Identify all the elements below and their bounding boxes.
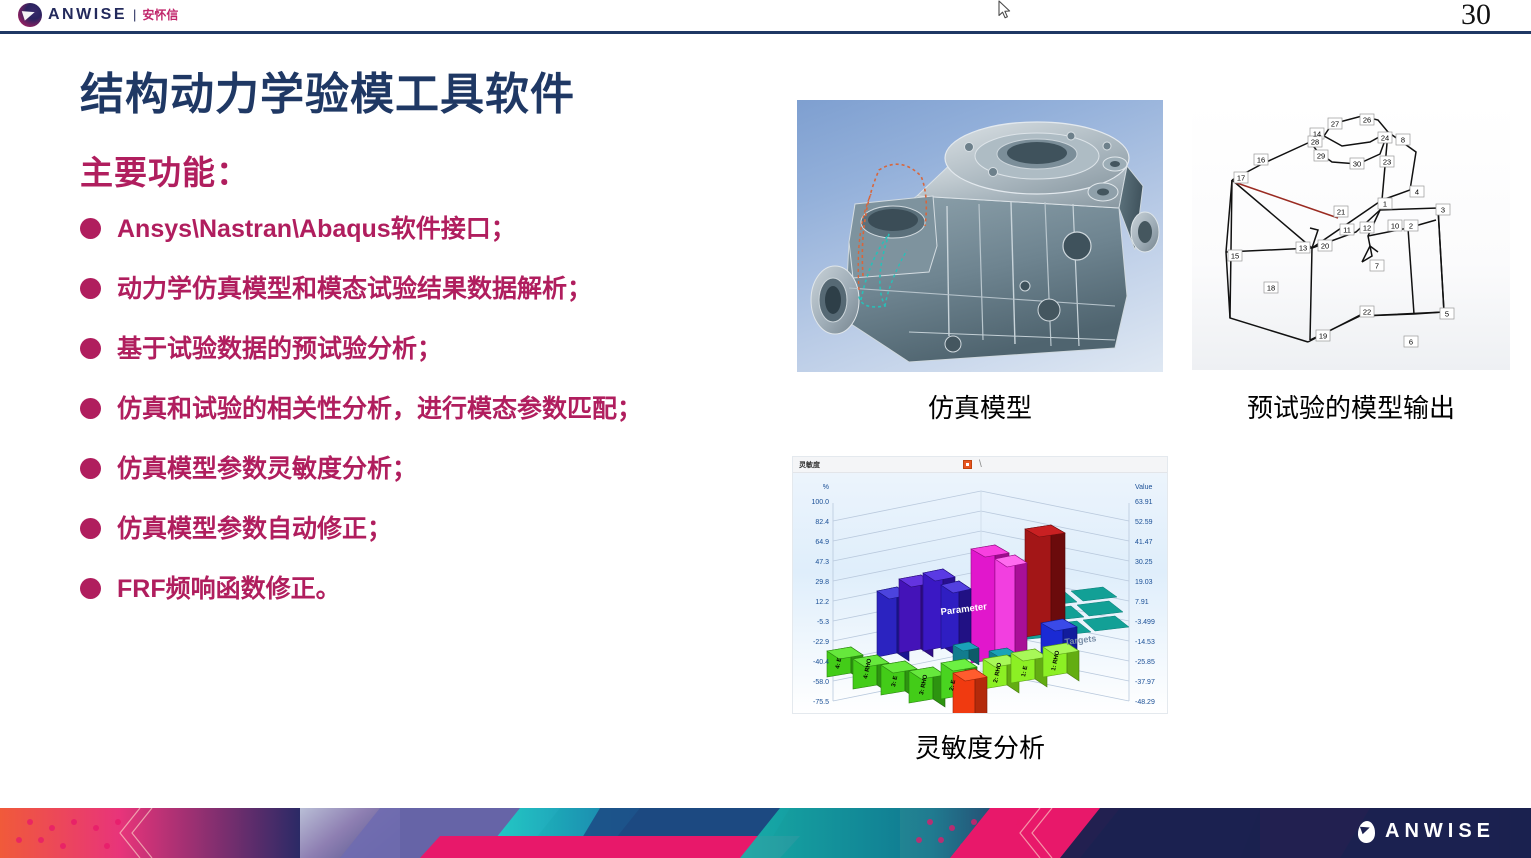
list-item-label: Ansys\Nastran\Abaqus软件接口； (117, 206, 516, 252)
bullet-dot-icon (80, 518, 101, 539)
list-item: FRF频响函数修正。 (80, 566, 810, 626)
wire-node-label: 11 (1343, 226, 1351, 235)
chart-y2tick-label: 63.91 (1135, 499, 1153, 506)
wire-node-label: 30 (1353, 160, 1361, 169)
chart-y2tick-label: -3.499 (1135, 619, 1155, 626)
chart-ytick-label: -22.9 (813, 639, 829, 646)
chart-ytick-label: -75.5 (813, 699, 829, 706)
list-item: 基于试验数据的预试验分析； (80, 326, 810, 386)
bullet-dot-icon (80, 218, 101, 239)
wire-node-label: 15 (1231, 252, 1239, 261)
chart-y2tick-label: 19.03 (1135, 579, 1153, 586)
chart-ytick-label: -40.4 (813, 659, 829, 666)
bullet-dot-icon (80, 278, 101, 299)
caption-sensitivity: 灵敏度分析 (792, 728, 1168, 765)
brand-name: ANWISE (48, 3, 127, 27)
wire-node-label: 1 (1383, 200, 1387, 209)
wire-node-label: 17 (1237, 174, 1245, 183)
caption-wireframe: 预试验的模型输出 (1192, 388, 1510, 425)
wire-node-label: 6 (1409, 338, 1413, 347)
list-item: Ansys\Nastran\Abaqus软件接口； (80, 206, 810, 266)
wire-node-label: 3 (1441, 206, 1445, 215)
list-item: 仿真模型参数灵敏度分析； (80, 446, 810, 506)
chart-y2tick-label: 7.91 (1135, 599, 1149, 606)
pretest-wireframe-image: 1 2 3 4 5 6 7 8 10 11 12 13 14 15 16 17 (1192, 102, 1510, 370)
caption-cad-model: 仿真模型 (797, 388, 1163, 425)
wire-node-label: 10 (1391, 222, 1399, 231)
page-number: 30 (1461, 0, 1491, 32)
chart-ytick-label: 12.2 (815, 599, 829, 606)
chart-ytick-label: -5.3 (817, 619, 829, 626)
bullet-dot-icon (80, 398, 101, 419)
list-item: 仿真模型参数自动修正； (80, 506, 810, 566)
wire-node-label: 4 (1415, 188, 1419, 197)
bullet-dot-icon (80, 338, 101, 359)
sensitivity-window-title: 灵敏度 (799, 460, 820, 470)
chart-y2tick-label: -25.85 (1135, 659, 1155, 666)
chart-ytick-label: 100.0 (811, 499, 829, 506)
list-item-label: 动力学仿真模型和模态试验结果数据解析； (117, 266, 592, 312)
list-item-label: 基于试验数据的预试验分析； (117, 326, 442, 372)
wire-node-label: 7 (1375, 262, 1379, 271)
slide-header: ANWISE | 安怀信 30 (0, 0, 1531, 32)
anwise-logo-icon (18, 3, 42, 27)
page-title: 结构动力学验模工具软件 (80, 58, 575, 122)
wire-node-label: 23 (1383, 158, 1391, 167)
wire-node-label: 13 (1299, 244, 1307, 253)
wire-node-label: 16 (1257, 156, 1265, 165)
chart-ytick-label: 47.3 (815, 559, 829, 566)
footer-decorative-band: ANWISE (0, 808, 1531, 858)
chart-y2tick-label: -14.53 (1135, 639, 1155, 646)
chart-y2tick-label: -48.29 (1135, 699, 1155, 706)
list-item-label: 仿真模型参数灵敏度分析； (117, 446, 417, 492)
wire-node-label: 19 (1319, 332, 1327, 341)
chart-ytick-label: -58.0 (813, 679, 829, 686)
sensitivity-chart-window: 灵敏度 \ (792, 456, 1168, 714)
cad-model-image (797, 100, 1163, 372)
anwise-logo-icon (1356, 821, 1376, 843)
footer-brand-logo: ANWISE (1356, 820, 1495, 843)
toolbar-glyph: \ (979, 459, 982, 470)
feature-list: Ansys\Nastran\Abaqus软件接口； 动力学仿真模型和模态试验结果… (80, 206, 810, 626)
section-subtitle: 主要功能： (80, 146, 250, 194)
wire-node-label: 18 (1267, 284, 1275, 293)
wire-node-label: 8 (1401, 136, 1405, 145)
footer-brand-name: ANWISE (1385, 820, 1495, 843)
brand-divider: | (133, 3, 136, 27)
chart-ytick-label: 29.8 (815, 579, 829, 586)
list-item: 仿真和试验的相关性分析，进行模态参数匹配； (80, 386, 810, 446)
mouse-cursor-icon (998, 0, 1014, 27)
wire-node-label: 26 (1363, 116, 1371, 125)
chart-y2tick-label: 41.47 (1135, 539, 1153, 546)
list-item-label: 仿真模型参数自动修正； (117, 506, 392, 552)
list-item-label: 仿真和试验的相关性分析，进行模态参数匹配； (117, 386, 642, 432)
wire-node-label: 29 (1317, 152, 1325, 161)
bullet-dot-icon (80, 578, 101, 599)
list-item: 动力学仿真模型和模态试验结果数据解析； (80, 266, 810, 326)
chart-y2tick-label: 30.25 (1135, 559, 1153, 566)
bullet-dot-icon (80, 458, 101, 479)
wire-node-label: 27 (1331, 120, 1339, 129)
wire-node-label: 28 (1311, 138, 1319, 147)
wire-node-label: 21 (1337, 208, 1345, 217)
wire-node-label: 12 (1363, 224, 1371, 233)
wire-node-label: 22 (1363, 308, 1371, 317)
brand-logo: ANWISE | 安怀信 (18, 3, 178, 27)
wire-node-label: 5 (1445, 310, 1449, 319)
chart-ytick-label: 82.4 (815, 519, 829, 526)
wire-node-label: 2 (1409, 222, 1413, 231)
chart-ytick-label: 64.9 (815, 539, 829, 546)
chart-y2axis-unit: Value (1135, 484, 1152, 491)
wire-node-label: 20 (1321, 242, 1329, 251)
list-item-label: FRF频响函数修正。 (117, 566, 341, 612)
chart-y2tick-label: -37.97 (1135, 679, 1155, 686)
wire-node-label: 24 (1381, 134, 1389, 143)
stop-square-icon[interactable] (963, 460, 972, 469)
chart-yaxis-unit: % (823, 484, 829, 491)
brand-name-cn: 安怀信 (142, 3, 178, 27)
chart-y2tick-label: 52.59 (1135, 519, 1153, 526)
header-divider (0, 31, 1531, 34)
slide-root: ANWISE | 安怀信 30 结构动力学验模工具软件 主要功能： Ansys\… (0, 0, 1531, 858)
